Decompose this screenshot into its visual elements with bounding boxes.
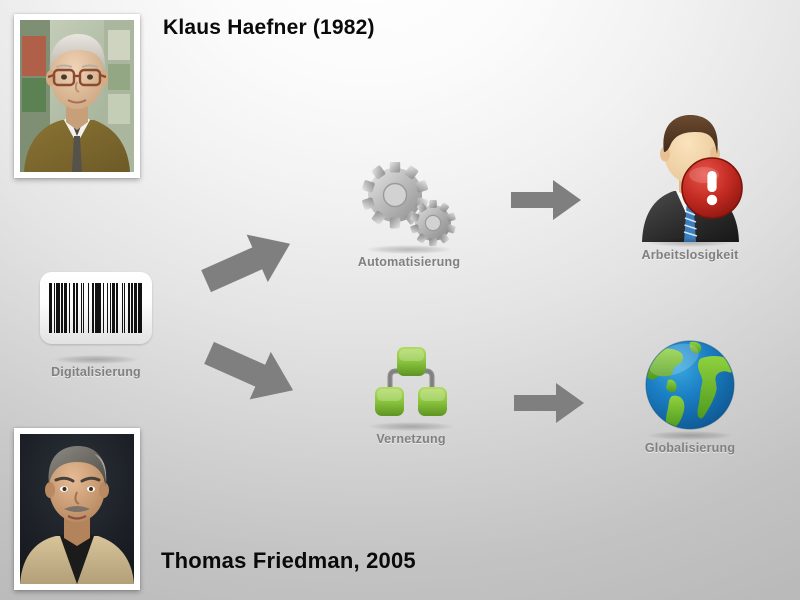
icon-shadow bbox=[366, 245, 452, 254]
portrait-photo-top bbox=[20, 20, 134, 172]
arrow-digitalisierung-to-automatisierung bbox=[196, 224, 302, 300]
automatisierung-art bbox=[354, 160, 464, 252]
arrow-digitalisierung-to-vernetzung bbox=[199, 334, 305, 410]
node-label-globalisierung: Globalisierung bbox=[615, 441, 765, 455]
icon-shadow bbox=[53, 355, 139, 364]
globalisierung-art bbox=[635, 338, 745, 438]
node-label-vernetzung: Vernetzung bbox=[336, 432, 486, 446]
barcode-bars bbox=[49, 283, 143, 333]
slide-title-top: Klaus Haefner (1982) bbox=[163, 16, 375, 40]
barcode-bar bbox=[142, 283, 143, 333]
vernetzung-art bbox=[356, 345, 466, 429]
portrait-image-friedman bbox=[20, 434, 134, 584]
node-vernetzung[interactable]: Vernetzung bbox=[336, 345, 486, 446]
node-label-digitalisierung: Digitalisierung bbox=[21, 365, 171, 379]
slide-title-bottom: Thomas Friedman, 2005 bbox=[161, 548, 416, 574]
node-label-arbeitslosigkeit: Arbeitslosigkeit bbox=[615, 248, 765, 262]
node-arbeitslosigkeit[interactable]: Arbeitslosigkeit bbox=[615, 110, 765, 262]
slide-canvas: Klaus Haefner (1982) bbox=[0, 0, 800, 600]
portrait-photo-bottom bbox=[20, 434, 134, 584]
arrow-vernetzung-to-globalisierung bbox=[512, 379, 586, 427]
gears-icon bbox=[354, 162, 464, 254]
network-nodes-icon bbox=[359, 345, 463, 427]
barcode-icon bbox=[40, 272, 152, 344]
arbeitslosigkeit-art bbox=[625, 110, 755, 245]
node-automatisierung[interactable]: Automatisierung bbox=[334, 160, 484, 269]
digitalisierung-art bbox=[41, 272, 151, 362]
icon-shadow bbox=[647, 431, 733, 440]
icon-shadow bbox=[368, 422, 454, 431]
node-digitalisierung[interactable]: Digitalisierung bbox=[21, 272, 171, 379]
businessman-warning-icon bbox=[626, 110, 754, 242]
portrait-image-haefner bbox=[20, 20, 134, 172]
node-label-automatisierung: Automatisierung bbox=[334, 255, 484, 269]
globe-icon bbox=[638, 338, 742, 438]
portrait-thomas-friedman bbox=[14, 428, 140, 590]
node-globalisierung[interactable]: Globalisierung bbox=[615, 338, 765, 455]
icon-shadow bbox=[647, 238, 733, 247]
portrait-klaus-haefner bbox=[14, 14, 140, 178]
arrow-automatisierung-to-arbeitslosigkeit bbox=[509, 176, 583, 224]
